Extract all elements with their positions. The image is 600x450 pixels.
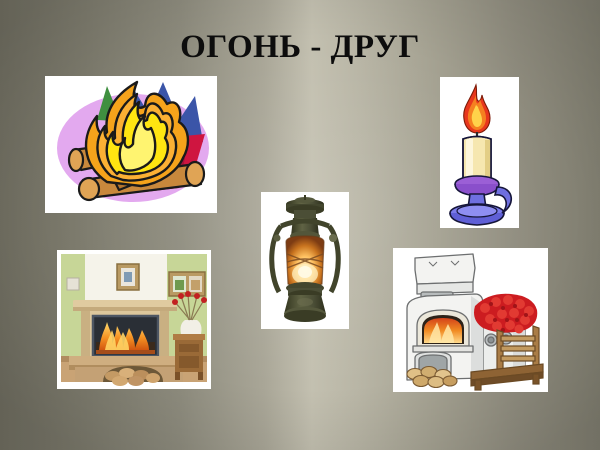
lantern-illustration bbox=[261, 192, 349, 329]
candle-illustration bbox=[440, 77, 519, 228]
image-bonfire[interactable] bbox=[45, 76, 217, 213]
page-title: ОГОНЬ - ДРУГ bbox=[0, 28, 600, 66]
image-lantern[interactable] bbox=[261, 192, 349, 329]
slide-canvas: ОГОНЬ - ДРУГ bbox=[0, 0, 600, 450]
fireplace-illustration bbox=[57, 250, 211, 389]
bonfire-illustration bbox=[45, 76, 217, 213]
stove-illustration bbox=[393, 248, 548, 392]
berries-heap bbox=[474, 294, 537, 334]
image-stove[interactable] bbox=[393, 248, 548, 392]
image-candle[interactable] bbox=[440, 77, 519, 228]
image-fireplace[interactable] bbox=[57, 250, 211, 389]
